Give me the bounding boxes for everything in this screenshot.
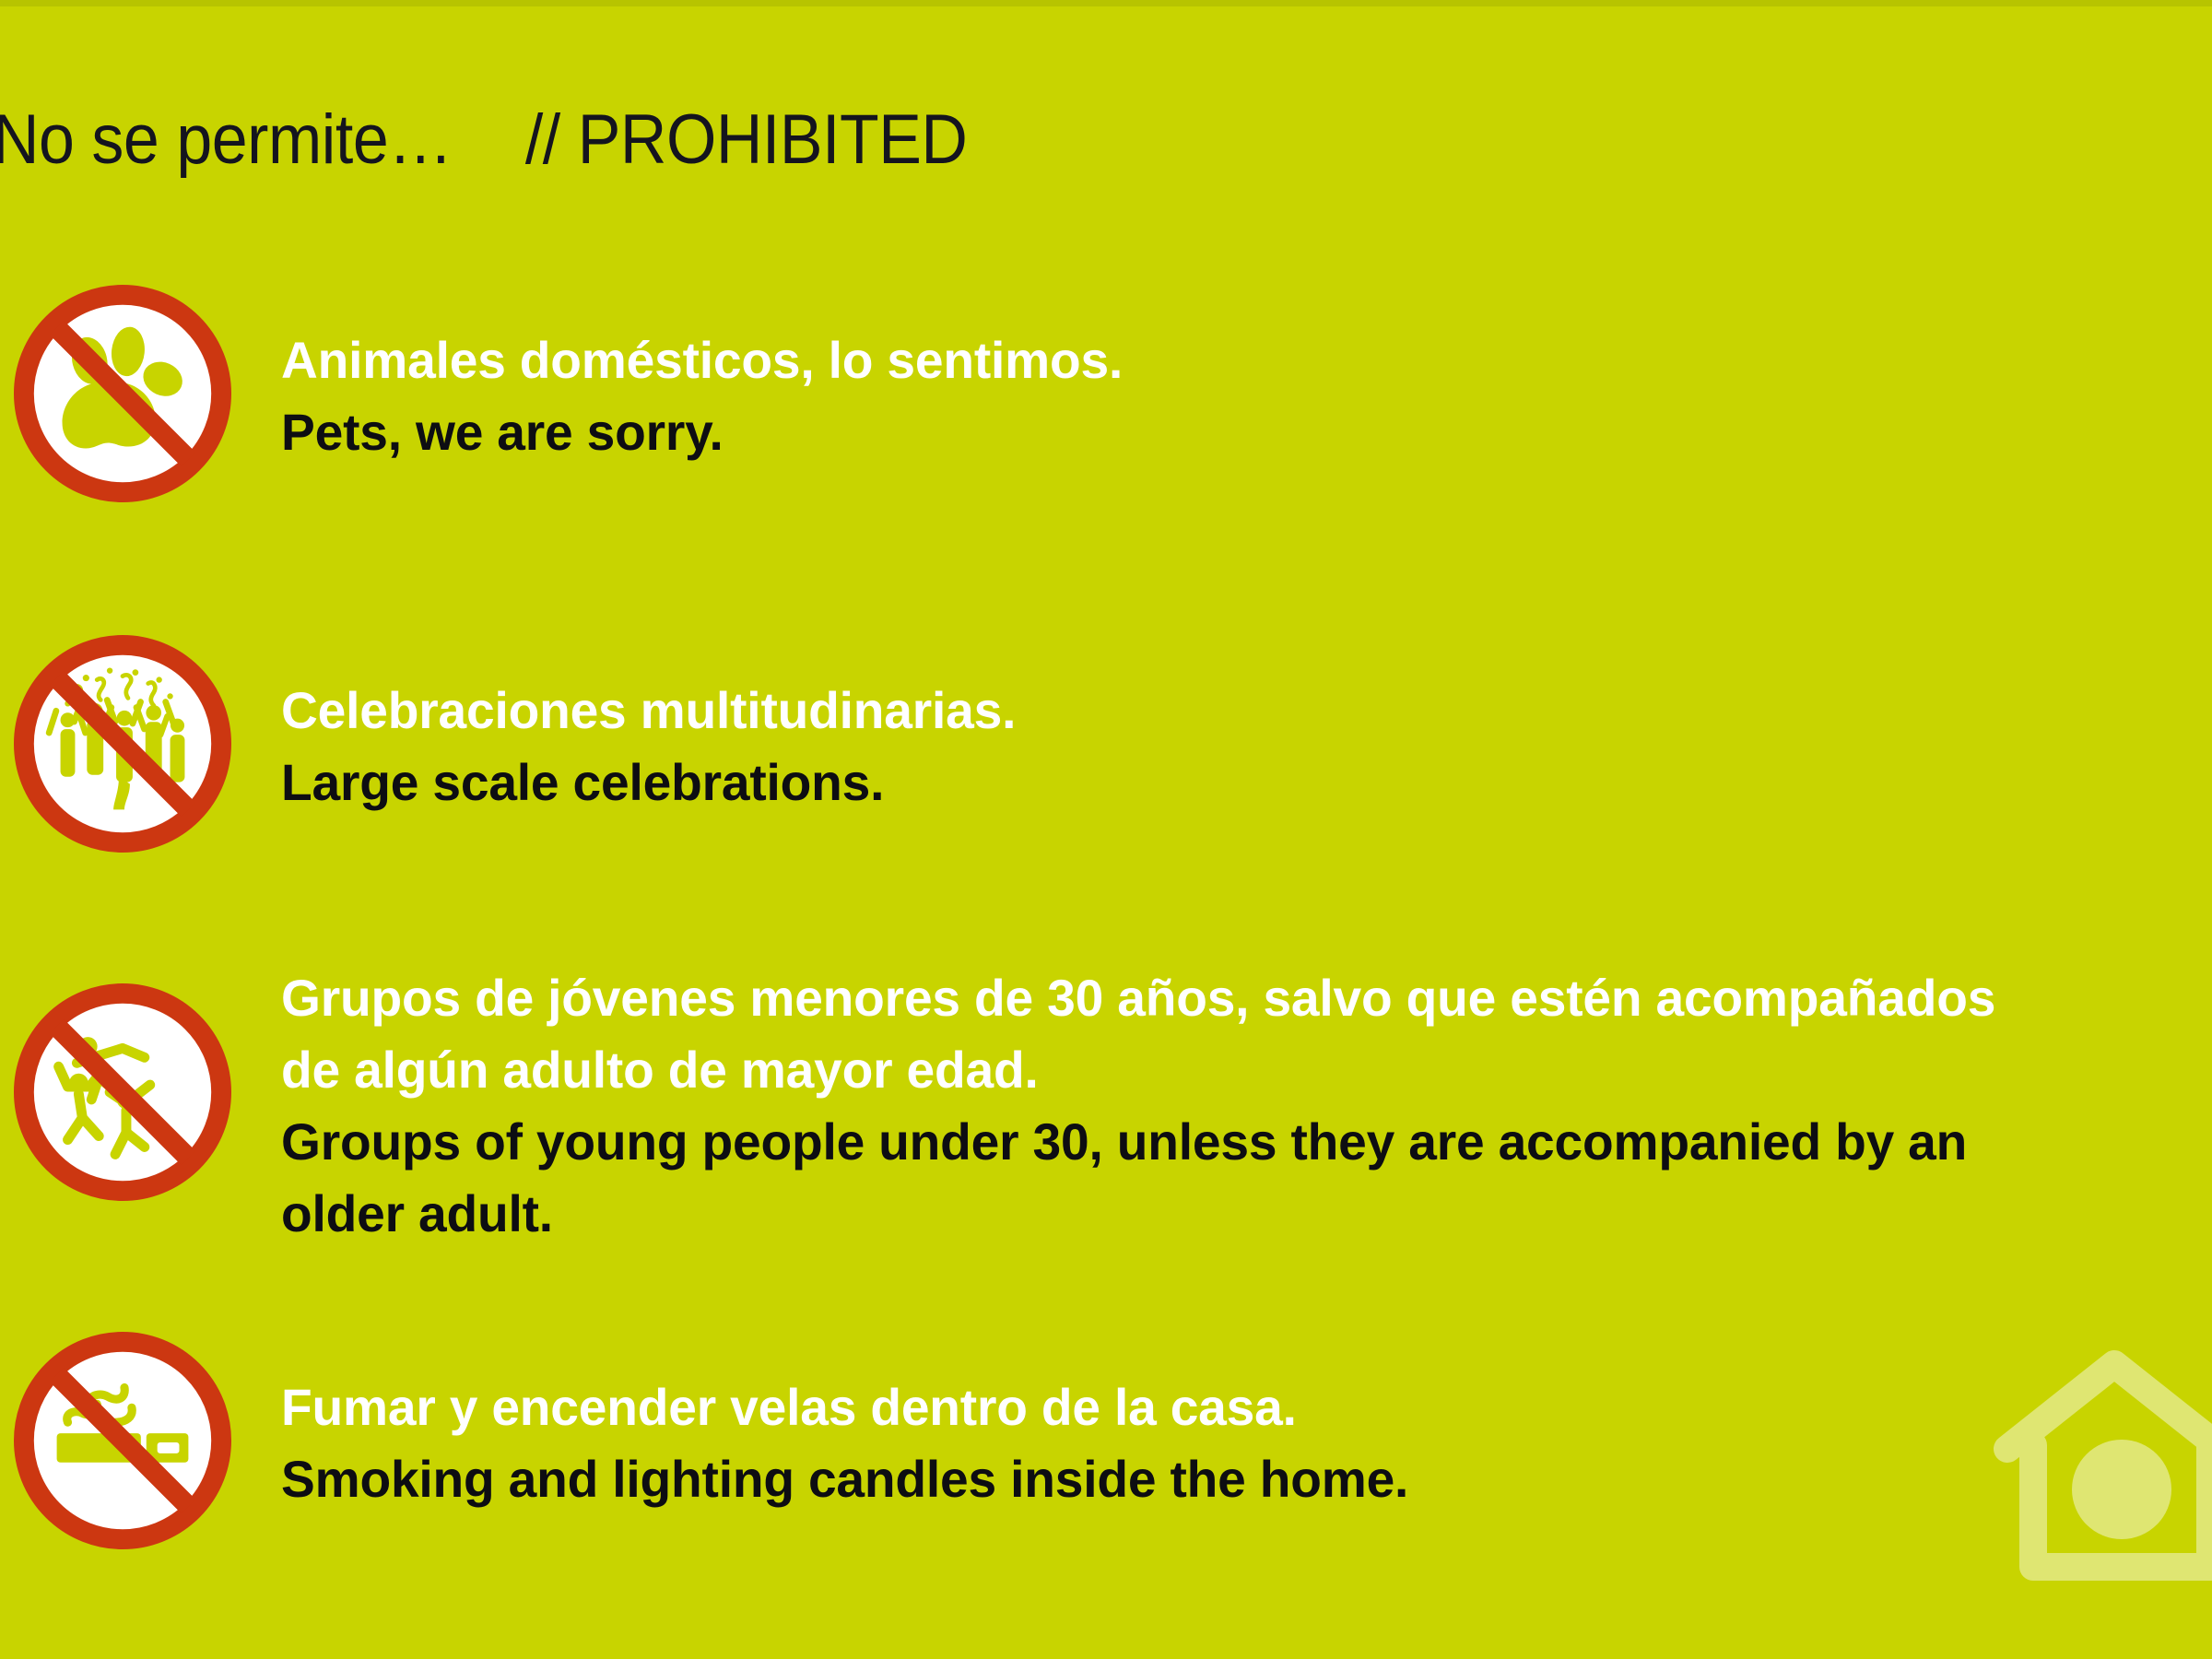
- rule-english-pets: Pets, we are sorry.: [281, 396, 2212, 468]
- rule-spanish-young-groups-line2: de algún adulto de mayor edad.: [281, 1034, 2212, 1106]
- rule-text-celebrations: Celebraciones multitudinarias. Large sca…: [281, 675, 2212, 818]
- rule-english-young-groups-line2: older adult.: [281, 1178, 2212, 1250]
- no-large-gatherings-crowd-icon: [13, 634, 232, 853]
- rule-text-smoking: Fumar y encender velas dentro de la casa…: [281, 1371, 2212, 1515]
- rule-english-celebrations: Large scale celebrations.: [281, 747, 2212, 818]
- rule-spanish-pets: Animales domésticos, lo sentimos.: [281, 324, 2212, 396]
- rule-english-young-groups-line1: Groups of young people under 30, unless …: [281, 1106, 2212, 1178]
- top-edge-band: [0, 0, 2212, 6]
- no-pets-paw-icon: [13, 284, 232, 503]
- rule-text-young-groups: Grupos de jóvenes menores de 30 años, sa…: [281, 962, 2212, 1250]
- page-title-english: // PROHIBITED: [525, 100, 968, 179]
- page-title: No se permite…// PROHIBITED: [0, 100, 967, 180]
- rule-text-pets: Animales domésticos, lo sentimos. Pets, …: [281, 324, 2212, 468]
- rule-spanish-smoking: Fumar y encender velas dentro de la casa…: [281, 1371, 2212, 1443]
- prohibited-rules-poster: No se permite…// PROHIBITED Animales dom…: [0, 0, 2212, 1659]
- rule-spanish-young-groups-line1: Grupos de jóvenes menores de 30 años, sa…: [281, 962, 2212, 1034]
- no-young-groups-icon: [13, 982, 232, 1202]
- rule-english-smoking: Smoking and lighting candles inside the …: [281, 1443, 2212, 1515]
- no-smoking-cigarette-icon: [13, 1331, 232, 1550]
- rule-spanish-celebrations: Celebraciones multitudinarias.: [281, 675, 2212, 747]
- page-title-spanish: No se permite…: [0, 100, 453, 179]
